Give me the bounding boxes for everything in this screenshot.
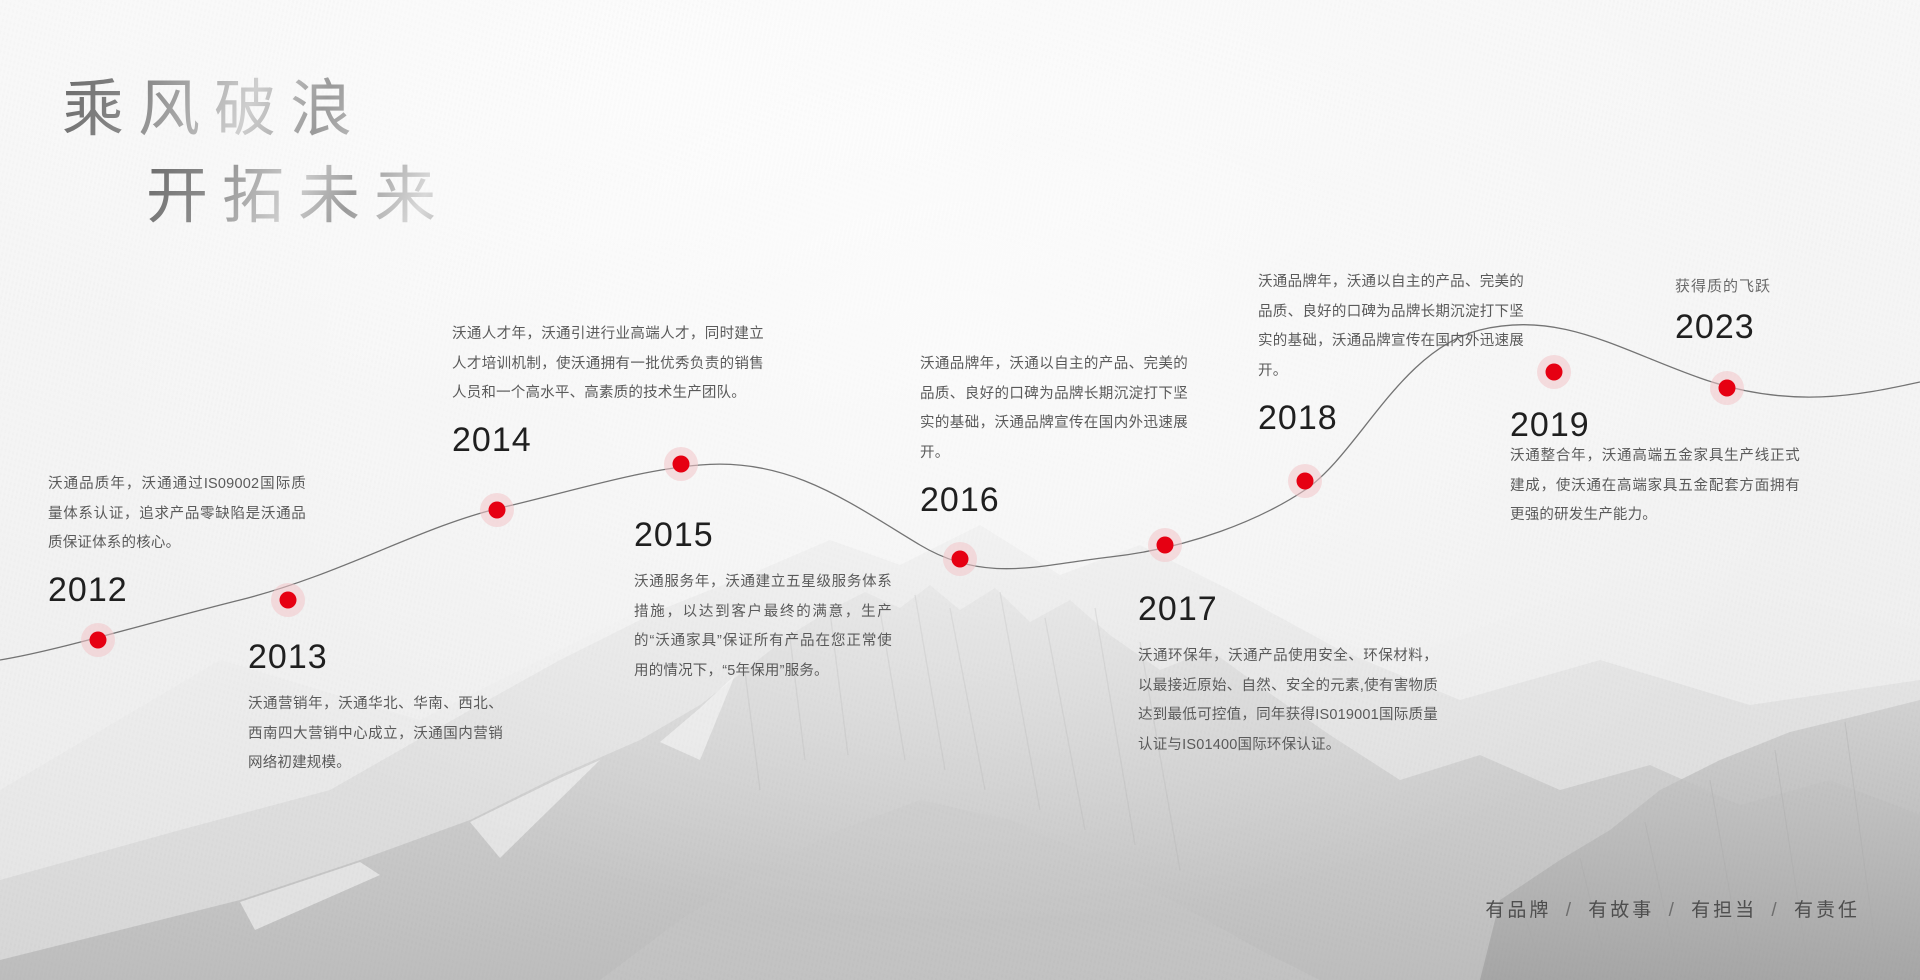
timeline-year-2019: 2019 [1510, 408, 1800, 442]
timeline-node-2013[interactable]: 2013 沃通营销年，沃通华北、华南、西北、西南四大营销中心成立，沃通国内营销网… [248, 640, 503, 779]
timeline-year-2023: 2023 [1675, 310, 1875, 344]
tagline-item-4: 有责任 [1794, 900, 1860, 921]
timeline-year-2016: 2016 [920, 483, 1188, 517]
timeline-node-2016[interactable]: 沃通品牌年，沃通以自主的产品、完美的品质、良好的口碑为品牌长期沉淀打下坚实的基础… [920, 350, 1188, 517]
tagline-separator-1: / [1566, 900, 1574, 921]
timeline-node-2012[interactable]: 沃通品质年，沃通通过IS09002国际质量体系认证，追求产品零缺陷是沃通品质保证… [48, 470, 306, 607]
timeline-year-2014: 2014 [452, 423, 764, 457]
timeline-year-2017: 2017 [1138, 592, 1438, 626]
timeline-desc-2014: 沃通人才年，沃通引进行业高端人才，同时建立人才培训机制，使沃通拥有一批优秀负责的… [452, 320, 764, 409]
timeline-caption-2023: 获得质的飞跃 [1675, 275, 1875, 296]
timeline-desc-2019: 沃通整合年，沃通高端五金家具生产线正式建成，使沃通在高端家具五金配套方面拥有更强… [1510, 442, 1800, 531]
headline-line-1: 乘风破浪 [62, 72, 450, 145]
timeline-desc-2013: 沃通营销年，沃通华北、华南、西北、西南四大营销中心成立，沃通国内营销网络初建规模… [248, 690, 503, 779]
timeline-node-2015[interactable]: 2015 沃通服务年，沃通建立五星级服务体系措施，以达到客户最终的满意，生产的“… [634, 518, 892, 687]
timeline-desc-2015: 沃通服务年，沃通建立五星级服务体系措施，以达到客户最终的满意，生产的“沃通家具”… [634, 568, 892, 687]
timeline-desc-2018: 沃通品牌年，沃通以自主的产品、完美的品质、良好的口碑为品牌长期沉淀打下坚实的基础… [1258, 268, 1524, 387]
timeline-node-2014[interactable]: 沃通人才年，沃通引进行业高端人才，同时建立人才培训机制，使沃通拥有一批优秀负责的… [452, 320, 764, 457]
timeline-year-2013: 2013 [248, 640, 503, 674]
tagline-item-1: 有品牌 [1485, 900, 1551, 921]
timeline-year-2015: 2015 [634, 518, 892, 552]
tagline-separator-3: / [1771, 900, 1779, 921]
timeline-year-2018: 2018 [1258, 401, 1524, 435]
page-title: 乘风破浪 开拓未来 [62, 72, 450, 232]
timeline-node-2018[interactable]: 沃通品牌年，沃通以自主的产品、完美的品质、良好的口碑为品牌长期沉淀打下坚实的基础… [1258, 268, 1524, 435]
tagline-item-3: 有担当 [1691, 900, 1757, 921]
headline-line-2: 开拓未来 [146, 159, 450, 232]
timeline-node-2017[interactable]: 2017 沃通环保年，沃通产品使用安全、环保材料，以最接近原始、自然、安全的元素… [1138, 592, 1438, 761]
timeline-desc-2017: 沃通环保年，沃通产品使用安全、环保材料，以最接近原始、自然、安全的元素,使有害物… [1138, 642, 1438, 761]
timeline-node-2019[interactable]: 2019 沃通整合年，沃通高端五金家具生产线正式建成，使沃通在高端家具五金配套方… [1510, 408, 1800, 545]
timeline-node-2023[interactable]: 获得质的飞跃 2023 [1675, 275, 1875, 344]
tagline-separator-2: / [1669, 900, 1677, 921]
timeline-year-2012: 2012 [48, 573, 306, 607]
timeline-desc-2012: 沃通品质年，沃通通过IS09002国际质量体系认证，追求产品零缺陷是沃通品质保证… [48, 470, 306, 559]
timeline-desc-2016: 沃通品牌年，沃通以自主的产品、完美的品质、良好的口碑为品牌长期沉淀打下坚实的基础… [920, 350, 1188, 469]
footer-tagline: 有品牌 / 有故事 / 有担当 / 有责任 [1485, 895, 1860, 922]
tagline-item-2: 有故事 [1588, 900, 1654, 921]
slide-canvas: 乘风破浪 开拓未来 [0, 0, 1920, 980]
